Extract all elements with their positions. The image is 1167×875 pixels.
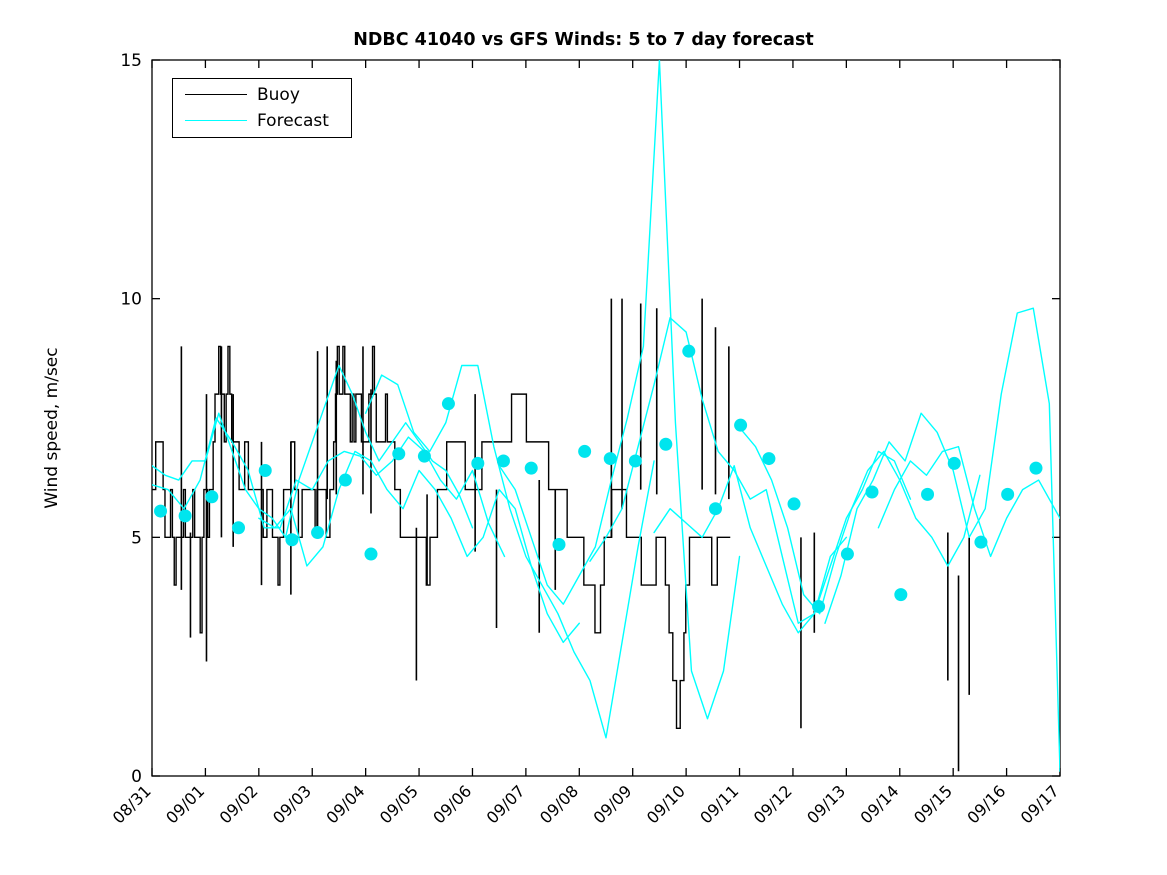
forecast-line [740,428,980,614]
forecast-line [825,308,1060,771]
forecast-marker-dot [154,505,167,518]
x-tick-label: 09/14 [857,781,903,827]
series-lines [152,60,1060,771]
forecast-marker-dot [392,447,405,460]
buoy-step-line [152,346,730,728]
forecast-marker-dot [179,509,192,522]
forecast-marker-dot [418,450,431,463]
forecast-marker-dot [232,521,245,534]
x-tick-label: 09/15 [910,781,956,827]
forecast-marker-dot [762,452,775,465]
x-tick-label: 09/08 [536,781,582,827]
x-tick-label: 09/16 [963,781,1009,827]
x-tick-label: 09/06 [429,781,475,827]
forecast-marker-dot [734,419,747,432]
forecast-marker-dot [1001,488,1014,501]
forecast-marker-dot [578,445,591,458]
forecast-marker-dot [948,457,961,470]
forecast-marker-dot [364,548,377,561]
legend: Buoy Forecast [172,78,352,138]
x-tick-label: 08/31 [109,781,155,827]
forecast-marker-dot [442,397,455,410]
x-tick-label: 09/10 [643,781,689,827]
legend-label-forecast: Forecast [257,108,329,134]
x-tick-label: 09/13 [803,781,849,827]
forecast-marker-dot [497,454,510,467]
x-tick-label: 09/12 [750,781,796,827]
forecast-marker-dot [921,488,934,501]
x-tick-label: 09/04 [322,781,368,827]
forecast-line [590,318,846,623]
axes [152,60,1060,776]
x-tick-label: 09/05 [376,781,422,827]
legend-swatch-forecast [185,120,247,121]
forecast-marker-dot [339,474,352,487]
x-tick-label: 09/17 [1017,781,1063,827]
x-tick-label: 09/02 [216,781,262,827]
forecast-marker-dot [709,502,722,515]
x-tick-label: 09/01 [162,781,208,827]
y-tick-label: 5 [131,528,142,548]
forecast-marker-dot [311,526,324,539]
forecast-marker-dot [285,533,298,546]
forecast-marker-dot [525,462,538,475]
legend-item-forecast: Forecast [173,108,353,134]
y-tick-label: 15 [120,51,142,71]
forecast-marker-dot [682,345,695,358]
x-tick-label: 09/11 [696,781,742,827]
chart-canvas: NDBC 41040 vs GFS Winds: 5 to 7 day fore… [0,0,1167,875]
x-tick-label: 09/09 [589,781,635,827]
forecast-marker-dot [471,457,484,470]
forecast-marker-dot [812,600,825,613]
legend-label-buoy: Buoy [257,82,300,108]
legend-swatch-buoy [185,94,247,95]
forecast-line [259,451,579,642]
forecast-marker-dot [659,438,672,451]
forecast-marker-dot [894,588,907,601]
y-tick-label: 10 [120,290,142,310]
forecast-marker-dot [974,536,987,549]
forecast-marker-dot [841,548,854,561]
forecast-markers [154,345,1042,613]
x-tick-label: 09/07 [483,781,529,827]
forecast-marker-dot [865,485,878,498]
legend-item-buoy: Buoy [173,82,353,108]
forecast-marker-dot [629,454,642,467]
forecast-marker-dot [1029,462,1042,475]
forecast-marker-dot [205,490,218,503]
forecast-line [499,60,739,719]
forecast-marker-dot [259,464,272,477]
forecast-line [152,418,505,556]
forecast-marker-dot [788,497,801,510]
forecast-line [654,451,910,632]
x-tick-label: 09/03 [269,781,315,827]
forecast-marker-dot [552,538,565,551]
forecast-marker-dot [604,452,617,465]
tick-labels: 05101508/3109/0109/0209/0309/0409/0509/0… [109,51,1063,827]
